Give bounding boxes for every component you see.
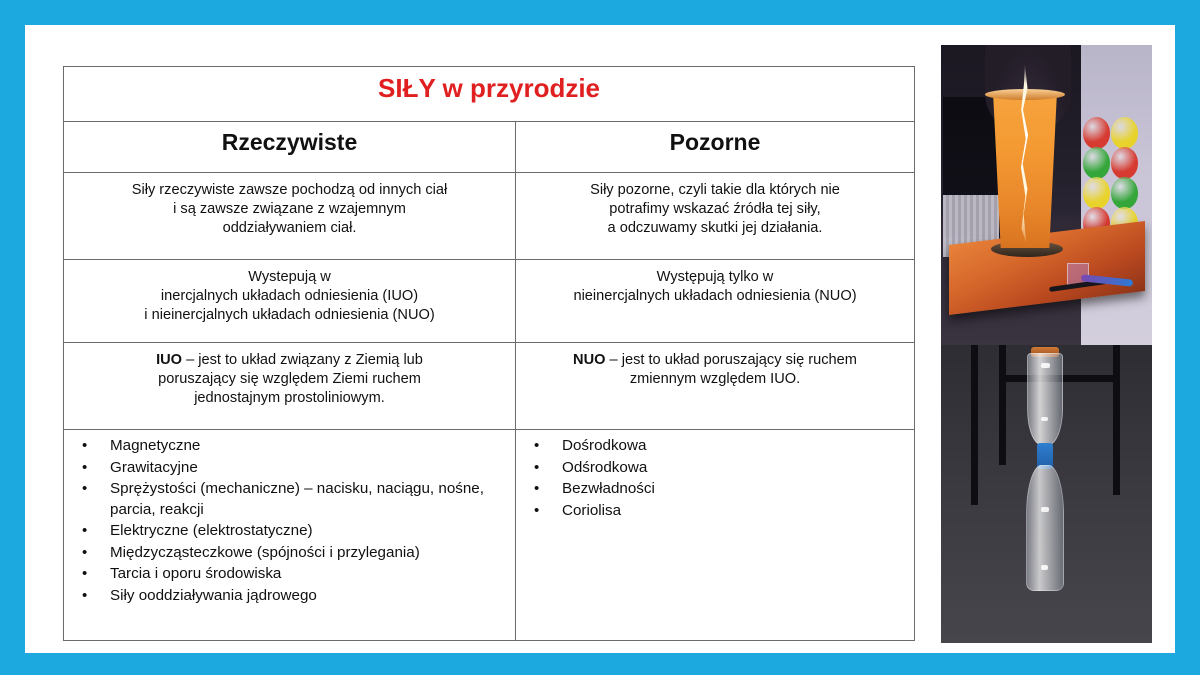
page-title: SIŁY w przyrodzie [64, 67, 914, 101]
definition-line-1: Siły rzeczywiste zawsze pochodzą od inny… [73, 181, 506, 200]
apparent-force-label: Dośrodkowa [562, 437, 646, 454]
list-item: •Bezwładności [534, 479, 908, 500]
frame-definition-cell-nuo: NUO – jest to układ poruszający się ruch… [516, 343, 915, 430]
physics-demonstration-photo [941, 45, 1152, 643]
apparent-force-label: Coriolisa [562, 502, 621, 519]
examples-cell-real: •Magnetyczne•Grawitacyjne•Sprężystości (… [64, 430, 516, 641]
list-item: •Siły ooddziaływania jądrowego [82, 586, 509, 607]
column-header-cell-apparent: Pozorne [516, 122, 915, 173]
list-item: •Elektryczne (elektrostatyczne) [82, 521, 509, 542]
real-force-label: Magnetyczne [110, 437, 200, 454]
real-force-label: Międzycząsteczkowe (spójności i przylega… [110, 544, 420, 561]
frame-definition-line-1: NUO – jest to układ poruszający się ruch… [525, 351, 905, 370]
frame-definition-cell-iuo: IUO – jest to układ związany z Ziemią lu… [64, 343, 516, 430]
real-force-label: Elektryczne (elektrostatyczne) [110, 522, 313, 539]
definition-line-2: potrafimy wskazać źródła tej siły, [525, 200, 905, 219]
examples-cell-apparent: •Dośrodkowa•Odśrodkowa•Bezwładności•Cori… [516, 430, 915, 641]
balloon [1111, 117, 1138, 149]
bullet-icon: • [82, 523, 110, 538]
real-force-label: Siły ooddziaływania jądrowego [110, 587, 317, 604]
definition-line-3: a odczuwamy skutki jej działania. [525, 219, 905, 238]
photo-glint-4 [1041, 565, 1048, 570]
list-item: •Odśrodkowa [534, 458, 908, 479]
list-item: •Tarcia i oporu środowiska [82, 564, 509, 585]
slide-canvas: SIŁY w przyrodzie Rzeczywiste Pozorne [25, 25, 1175, 653]
photo-bottle-lower [1026, 465, 1064, 591]
title-cell: SIŁY w przyrodzie [64, 67, 915, 122]
frame-definition-line-1-text: – jest to układ związany z Ziemią lub [182, 352, 423, 368]
list-item: •Dośrodkowa [534, 436, 908, 457]
definition-line-1: Siły pozorne, czyli takie dla których ni… [525, 181, 905, 200]
frame-definition-text-iuo: IUO – jest to układ związany z Ziemią lu… [64, 343, 515, 414]
balloon [1083, 117, 1110, 149]
definition-cell-apparent: Siły pozorne, czyli takie dla których ni… [516, 173, 915, 260]
balloon [1083, 147, 1110, 179]
apparent-force-label: Bezwładności [562, 480, 655, 497]
definition-cell-real: Siły rzeczywiste zawsze pochodzą od inny… [64, 173, 516, 260]
reference-frames-text-apparent: Występują tylko w nieinercjalnych układa… [516, 260, 914, 312]
photo-table-leg-right [1113, 345, 1120, 495]
reference-frames-cell-apparent: Występują tylko w nieinercjalnych układa… [516, 260, 915, 343]
reference-frames-text-real: Wystepują w inercjalnych układach odnies… [64, 260, 515, 331]
bullet-icon: • [82, 481, 110, 496]
real-force-label: Grawitacyjne [110, 459, 198, 476]
bullet-icon: • [534, 460, 562, 475]
reference-frames-cell-real: Wystepują w inercjalnych układach odnies… [64, 260, 516, 343]
list-item: •Międzycząsteczkowe (spójności i przyleg… [82, 543, 509, 564]
balloon [1111, 147, 1138, 179]
photo-glint-2 [1041, 417, 1048, 421]
definition-line-3: oddziaływaniem ciał. [73, 219, 506, 238]
list-item: •Coriolisa [534, 501, 908, 522]
bullet-icon: • [82, 460, 110, 475]
column-header-real: Rzeczywiste [64, 122, 515, 154]
photo-glint-3 [1041, 507, 1049, 512]
frame-definition-line-1-text: – jest to układ poruszający się ruchem [605, 352, 856, 368]
frame-abbr-iuo: IUO [156, 352, 182, 368]
list-item: •Grawitacyjne [82, 458, 509, 479]
frame-definition-line-3: jednostajnym prostoliniowym. [73, 389, 506, 408]
bullet-icon: • [82, 438, 110, 453]
force-list-real: •Magnetyczne•Grawitacyjne•Sprężystości (… [64, 436, 515, 606]
bullet-icon: • [82, 588, 110, 603]
list-item: •Sprężystości (mechaniczne) – nacisku, n… [82, 479, 509, 520]
frame-definition-line-1: IUO – jest to układ związany z Ziemią lu… [73, 351, 506, 370]
force-list-apparent: •Dośrodkowa•Odśrodkowa•Bezwładności•Cori… [516, 436, 914, 521]
photo-table-leg-mid [999, 345, 1006, 465]
table-row-frame-definitions: IUO – jest to układ związany z Ziemią lu… [64, 343, 915, 430]
reference-line-3: i nieinercjalnych układach odniesienia (… [73, 306, 506, 325]
definition-text-real: Siły rzeczywiste zawsze pochodzą od inny… [64, 173, 515, 244]
frame-definition-line-2: poruszający się względem Ziemi ruchem [73, 370, 506, 389]
slide-root: SIŁY w przyrodzie Rzeczywiste Pozorne [0, 0, 1200, 675]
reference-line-1: Występują tylko w [525, 268, 905, 287]
real-force-label: Tarcia i oporu środowiska [110, 565, 281, 582]
bullet-icon: • [534, 503, 562, 518]
reference-line-2: nieinercjalnych układach odniesienia (NU… [525, 287, 905, 306]
table-row-title: SIŁY w przyrodzie [64, 67, 915, 122]
table-row-reference-frames: Wystepują w inercjalnych układach odnies… [64, 260, 915, 343]
bullet-icon: • [82, 566, 110, 581]
reference-line-1: Wystepują w [73, 268, 506, 287]
balloon [1083, 177, 1110, 209]
table-row-definition: Siły rzeczywiste zawsze pochodzą od inny… [64, 173, 915, 260]
definition-line-2: i są zawsze związane z wzajemnym [73, 200, 506, 219]
frame-definition-text-nuo: NUO – jest to układ poruszający się ruch… [516, 343, 914, 395]
bullet-icon: • [534, 438, 562, 453]
apparent-force-label: Odśrodkowa [562, 459, 647, 476]
column-header-apparent: Pozorne [516, 122, 914, 154]
bullet-icon: • [534, 481, 562, 496]
frame-abbr-nuo: NUO [573, 352, 605, 368]
photo-glint-1 [1041, 363, 1050, 368]
column-header-cell-real: Rzeczywiste [64, 122, 516, 173]
table-row-headers: Rzeczywiste Pozorne [64, 122, 915, 173]
forces-comparison-table: SIŁY w przyrodzie Rzeczywiste Pozorne [63, 66, 915, 641]
real-force-label: Sprężystości (mechaniczne) – nacisku, na… [110, 480, 484, 518]
bullet-icon: • [82, 545, 110, 560]
photo-table-leg-left [971, 345, 978, 505]
balloon [1111, 177, 1138, 209]
list-item: •Magnetyczne [82, 436, 509, 457]
table-row-examples: •Magnetyczne•Grawitacyjne•Sprężystości (… [64, 430, 915, 641]
definition-text-apparent: Siły pozorne, czyli takie dla których ni… [516, 173, 914, 244]
reference-line-2: inercjalnych układach odniesienia (IUO) [73, 287, 506, 306]
frame-definition-line-2: zmiennym względem IUO. [525, 370, 905, 389]
